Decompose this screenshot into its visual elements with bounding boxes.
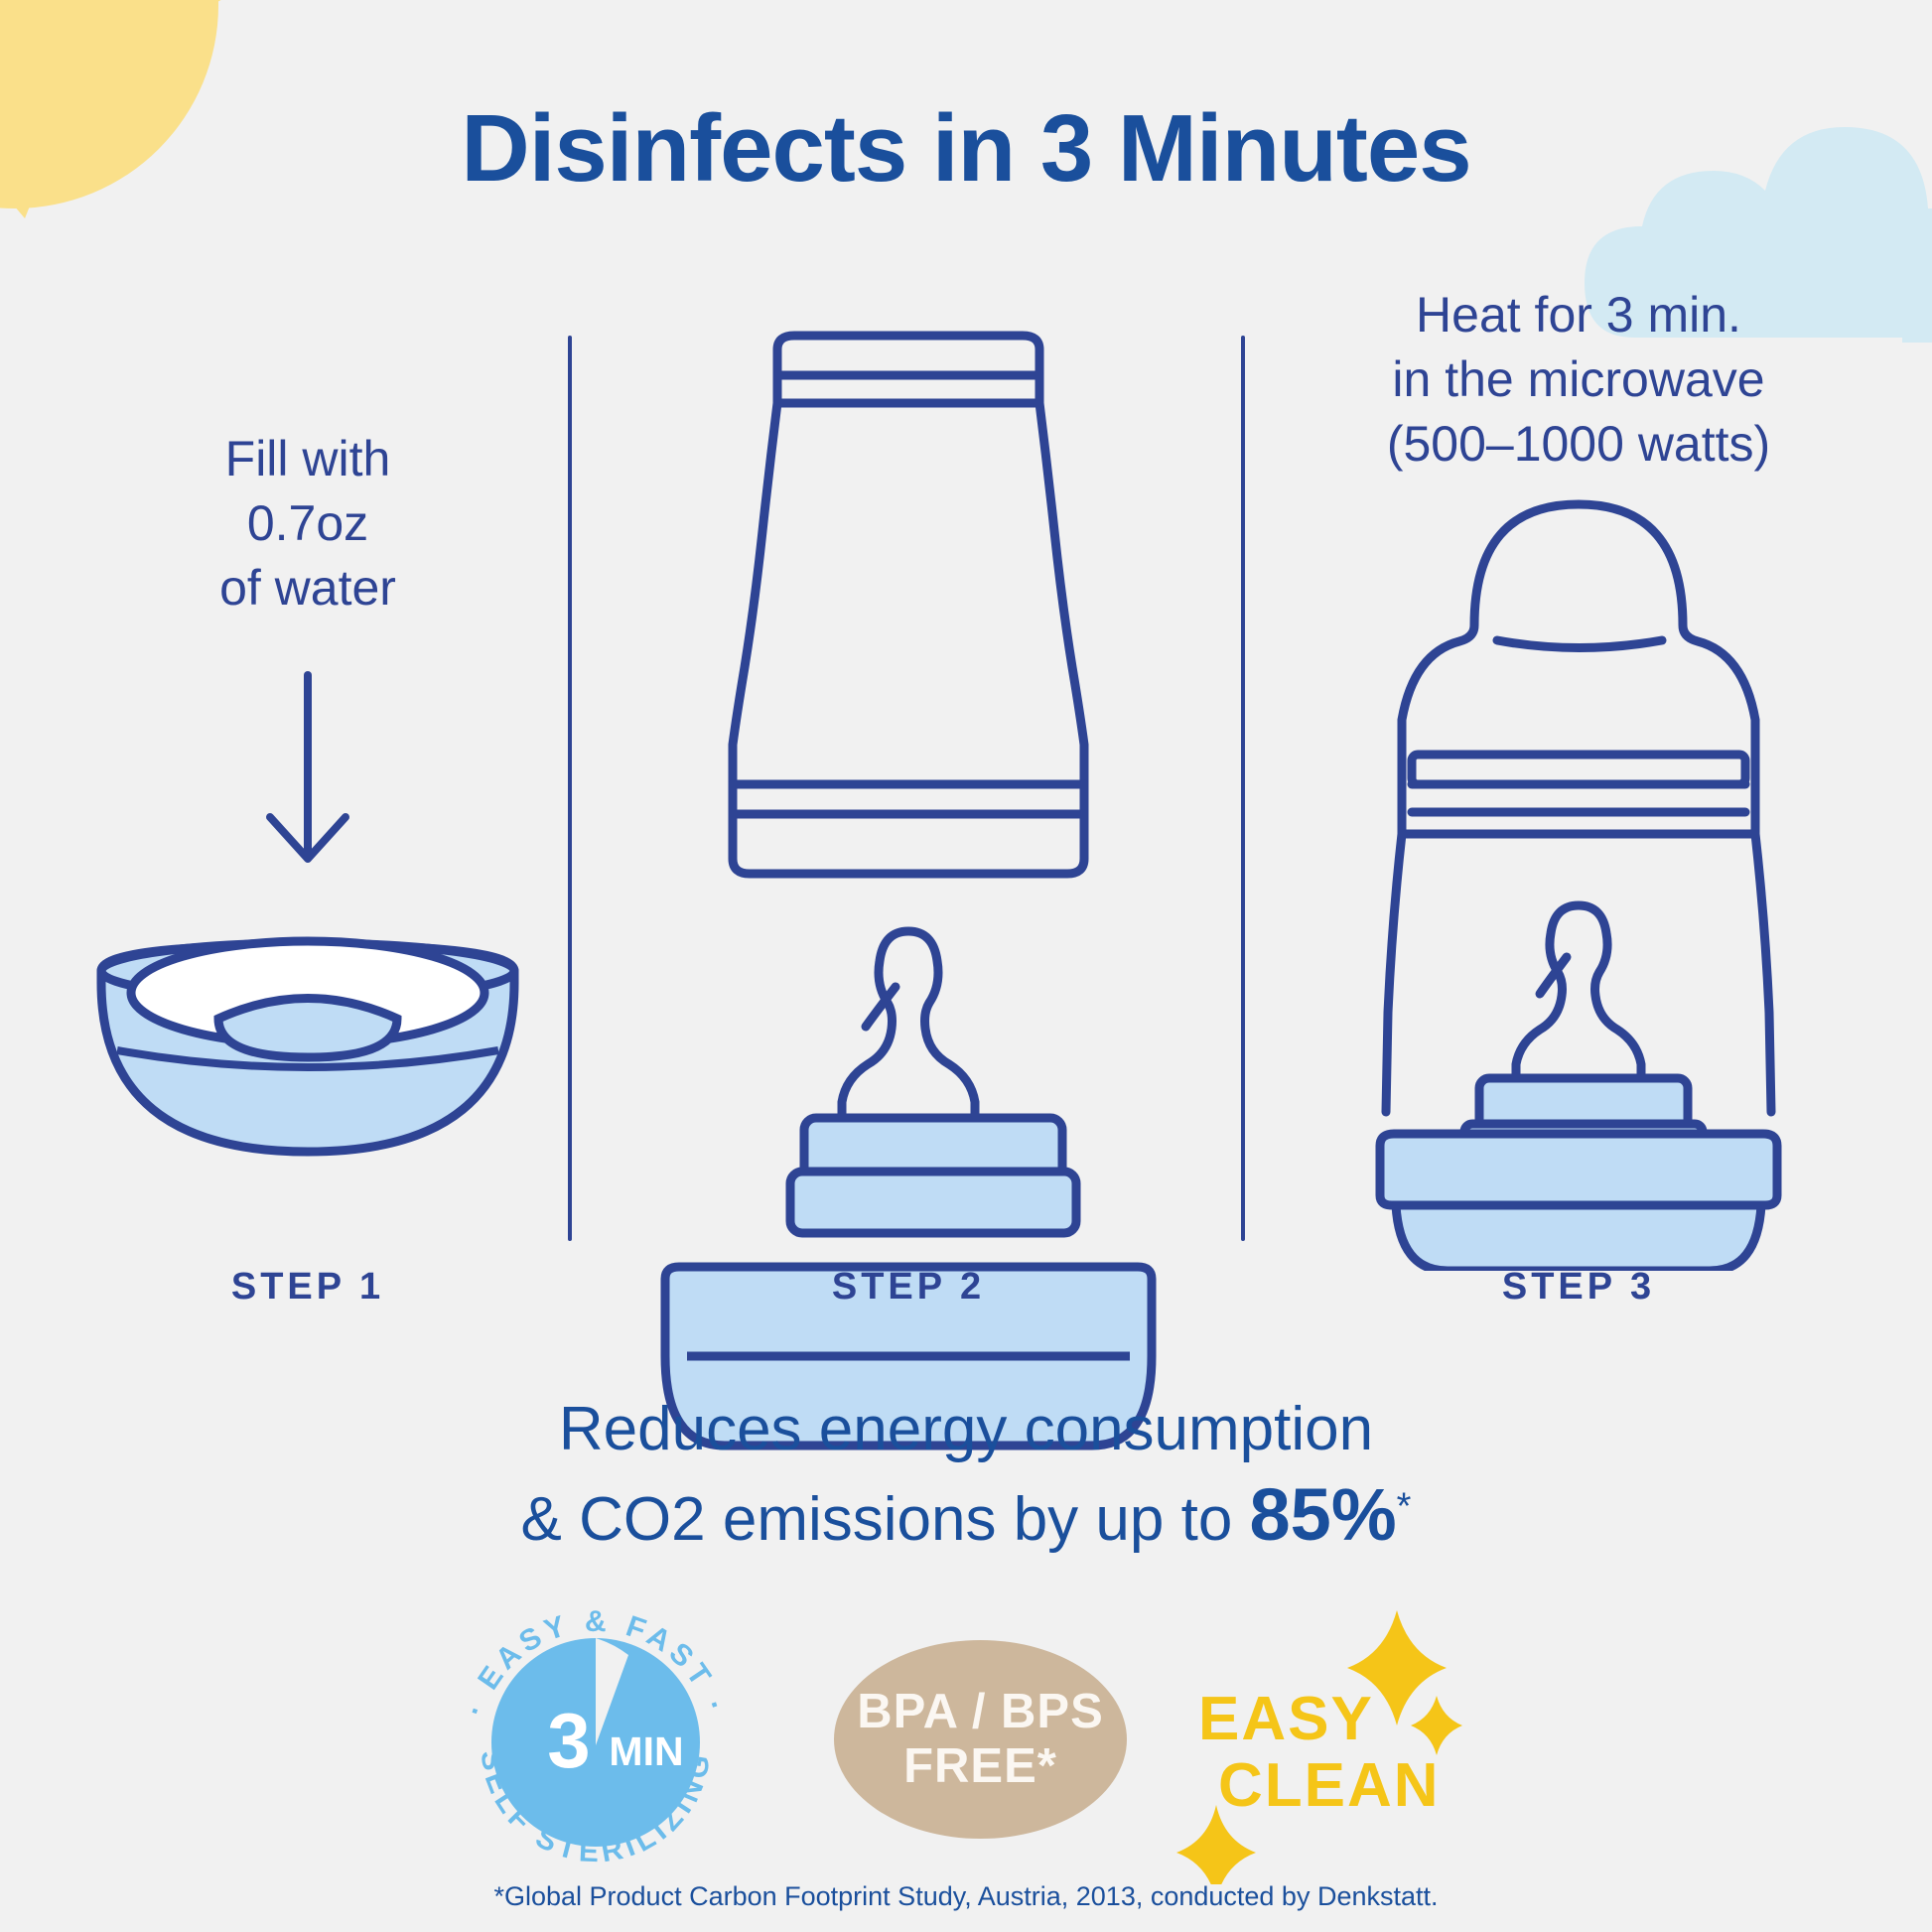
- step-1-label: STEP 1: [60, 1266, 556, 1309]
- step-1-column: Fill with 0.7oz of water STEP 1: [60, 328, 556, 1251]
- step-3-column: Heat for 3 min. in the microwave (500–10…: [1261, 328, 1896, 1251]
- infographic-page: Disinfects in 3 Minutes Fill with 0.7oz …: [0, 0, 1932, 1932]
- step-2-column: STEP 2: [596, 328, 1221, 1251]
- collar-ring-icon: [790, 1118, 1076, 1233]
- disassembled-bottle-illustration: [596, 318, 1221, 1241]
- inner-teat-icon: [1516, 905, 1641, 1084]
- step-2-label: STEP 2: [596, 1266, 1221, 1309]
- column-divider-2: [1241, 336, 1245, 1241]
- step-3-caption-line-1: Heat for 3 min.: [1261, 283, 1896, 347]
- sparkle-small-icon: [1411, 1696, 1462, 1755]
- bowl-with-arrow-illustration: [60, 655, 556, 1251]
- badge-center-unit: MIN: [609, 1728, 683, 1774]
- badge-bpa-bps-free: BPA / BPS FREE*: [834, 1640, 1127, 1839]
- bpa-ellipse-shape: BPA / BPS FREE*: [834, 1640, 1127, 1839]
- badge-center-number: 3: [547, 1697, 590, 1784]
- step-1-caption-line-1: Fill with: [60, 427, 556, 491]
- badge-row: · EASY & FAST · SELF STERILIZING 3 MIN B…: [0, 1598, 1932, 1866]
- badge-easy-clean: EASY CLEAN: [1176, 1606, 1464, 1884]
- three-min-clock-icon: · EASY & FAST · SELF STERILIZING 3 MIN: [452, 1598, 740, 1886]
- claim-line-2-prefix: & CO2 emissions by up to: [521, 1485, 1250, 1554]
- claim-asterisk: *: [1397, 1486, 1412, 1528]
- claim-line-2: & CO2 emissions by up to 85%*: [0, 1468, 1932, 1563]
- bpa-line-2: FREE*: [903, 1739, 1057, 1794]
- bowl-icon: [101, 941, 514, 1152]
- badge-three-min: · EASY & FAST · SELF STERILIZING 3 MIN: [452, 1598, 740, 1886]
- page-title: Disinfects in 3 Minutes: [0, 94, 1932, 204]
- column-divider-1: [568, 336, 572, 1241]
- easy-clean-line-2: CLEAN: [1218, 1750, 1441, 1821]
- bpa-line-1: BPA / BPS: [857, 1685, 1104, 1739]
- step-1-caption-line-3: of water: [60, 556, 556, 621]
- assembled-bottle-outline-icon: [1386, 504, 1771, 1112]
- step-3-caption-line-2: in the microwave: [1261, 347, 1896, 412]
- easy-clean-line-1: EASY: [1198, 1684, 1374, 1754]
- footnote: *Global Product Carbon Footprint Study, …: [0, 1881, 1932, 1912]
- step-1-caption: Fill with 0.7oz of water: [60, 427, 556, 621]
- step-3-caption: Heat for 3 min. in the microwave (500–10…: [1261, 283, 1896, 477]
- claim-highlight: 85%: [1250, 1473, 1397, 1556]
- bottle-body-icon: [733, 336, 1084, 874]
- step-1-caption-line-2: 0.7oz: [60, 491, 556, 556]
- down-arrow-icon: [270, 675, 345, 859]
- base-holder-icon: [1380, 1134, 1777, 1271]
- energy-claim: Reduces energy consumption & CO2 emissio…: [0, 1390, 1932, 1563]
- teat-icon: [842, 931, 975, 1124]
- claim-line-1: Reduces energy consumption: [0, 1390, 1932, 1468]
- assembled-bottle-illustration: [1261, 457, 1896, 1271]
- step-3-label: STEP 3: [1261, 1266, 1896, 1309]
